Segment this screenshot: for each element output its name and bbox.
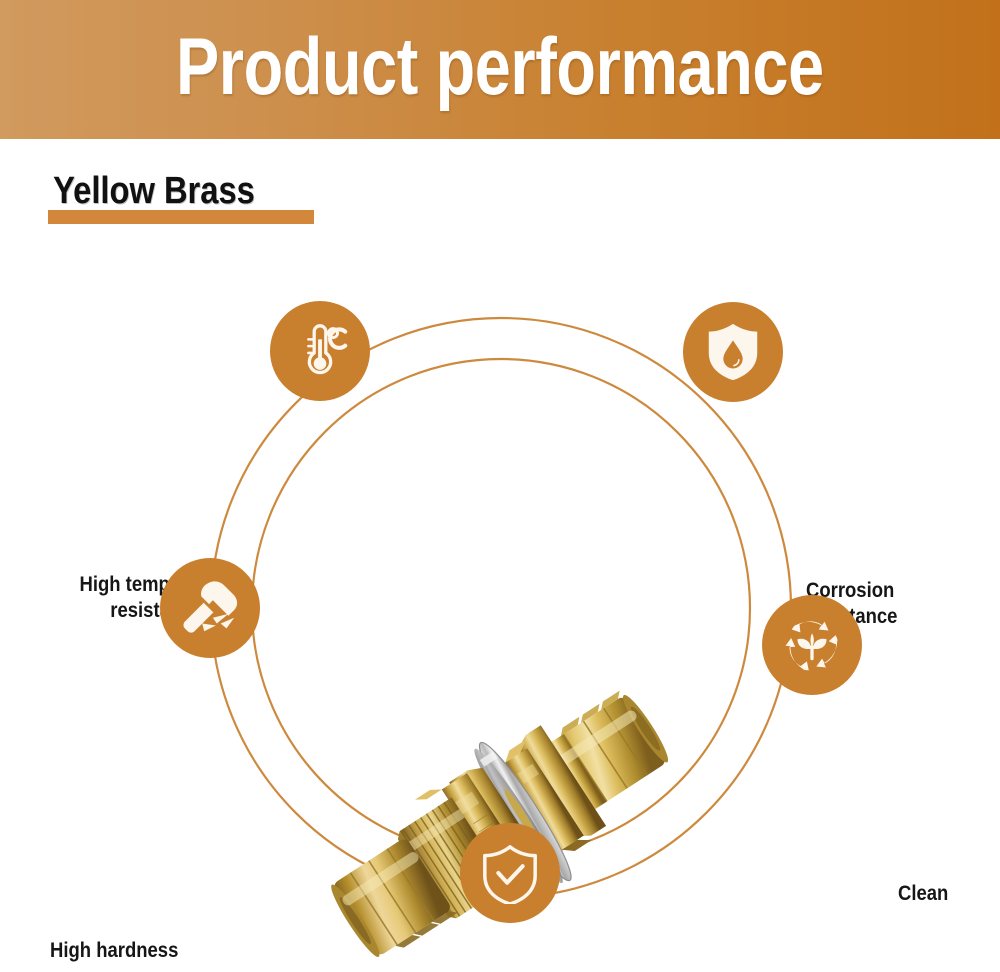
feature-label-clean: Clean [898, 881, 1000, 907]
outer-ring [211, 318, 791, 898]
recycle-leaf-icon [781, 614, 843, 676]
feature-node-quality-assurance[interactable] [460, 823, 560, 923]
feature-node-clean[interactable] [762, 595, 862, 695]
feature-wheel-diagram: High temperature resistance Corrosion re… [0, 250, 1000, 972]
feature-node-corrosion-resistance[interactable] [683, 302, 783, 402]
hammer-icon [178, 577, 242, 639]
shield-droplet-icon [703, 321, 763, 383]
infographic-page: Product performance Yellow Brass [0, 0, 1000, 972]
material-subtitle: Yellow Brass [48, 168, 288, 228]
shield-check-icon [479, 842, 541, 904]
inner-ring [252, 359, 750, 857]
feature-label-high-hardness: High hardness [50, 938, 235, 964]
feature-node-high-hardness[interactable] [160, 558, 260, 658]
subtitle-label: Yellow Brass [48, 168, 255, 214]
feature-node-high-temperature-resistance[interactable] [270, 301, 370, 401]
header-banner: Product performance [0, 0, 1000, 139]
thermometer-celsius-icon [289, 320, 351, 382]
page-title: Product performance [176, 27, 824, 108]
